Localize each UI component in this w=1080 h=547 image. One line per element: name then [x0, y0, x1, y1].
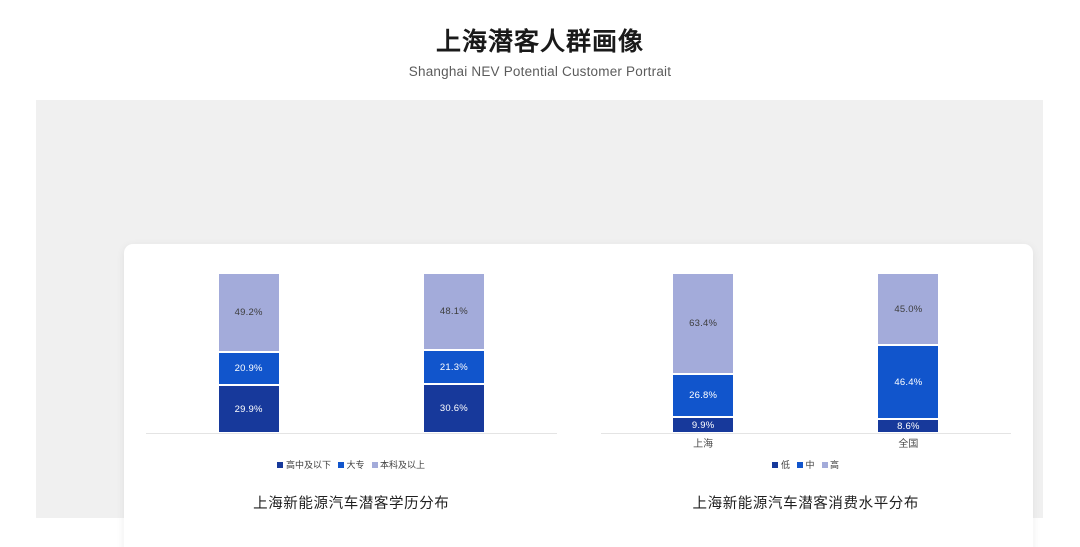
legend-item[interactable]: 大专 [338, 458, 365, 471]
charts-card: 49.2%20.9%29.9%48.1%21.3%30.6%高中及以下大专本科及… [124, 244, 1033, 547]
legend-swatch-icon [822, 462, 828, 468]
category-labels: 上海全国 [601, 435, 1012, 453]
bar-segment[interactable]: 48.1% [424, 273, 484, 350]
bar-segment[interactable]: 21.3% [424, 350, 484, 384]
bar-value-label: 20.9% [235, 363, 263, 374]
bar-segment[interactable]: 30.6% [424, 384, 484, 433]
bar-segment[interactable]: 49.2% [219, 273, 279, 352]
bar-segment[interactable]: 29.9% [219, 385, 279, 433]
bars-container: 63.4%26.8%9.9%45.0%46.4%8.6% [601, 273, 1012, 433]
legend-label: 中 [805, 458, 814, 471]
chart-caption: 上海新能源汽车潜客消费水平分布 [579, 492, 1034, 513]
legend-item[interactable]: 高中及以下 [277, 458, 331, 471]
category-label: 全国 [878, 435, 938, 453]
bar-segment[interactable]: 46.4% [878, 345, 938, 419]
legend-swatch-icon [338, 462, 344, 468]
bars-container: 49.2%20.9%29.9%48.1%21.3%30.6% [146, 273, 557, 433]
bar-value-label: 21.3% [440, 362, 468, 373]
legend-label: 大专 [346, 458, 364, 471]
chart-caption: 上海新能源汽车潜客学历分布 [124, 492, 579, 513]
content-panel: 49.2%20.9%29.9%48.1%21.3%30.6%高中及以下大专本科及… [36, 100, 1043, 518]
bar-value-label: 46.4% [894, 377, 922, 388]
chart-1: 49.2%20.9%29.9%48.1%21.3%30.6%高中及以下大专本科及… [124, 244, 579, 547]
bar-value-label: 49.2% [235, 307, 263, 318]
bar-column[interactable]: 45.0%46.4%8.6% [878, 273, 938, 433]
legend-swatch-icon [277, 462, 283, 468]
bar-segment[interactable]: 9.9% [673, 417, 733, 433]
axis-line [601, 433, 1012, 434]
bar-value-label: 48.1% [440, 306, 468, 317]
bar-value-label: 30.6% [440, 403, 468, 414]
legend-label: 低 [781, 458, 790, 471]
plot-area: 63.4%26.8%9.9%45.0%46.4%8.6% [579, 244, 1034, 434]
bar-column[interactable]: 49.2%20.9%29.9% [219, 273, 279, 433]
legend-item[interactable]: 中 [797, 458, 815, 471]
legend-swatch-icon [372, 462, 378, 468]
bar-column[interactable]: 48.1%21.3%30.6% [424, 273, 484, 433]
legend-item[interactable]: 低 [772, 458, 790, 471]
bar-segment[interactable]: 63.4% [673, 273, 733, 374]
charts-row: 49.2%20.9%29.9%48.1%21.3%30.6%高中及以下大专本科及… [124, 244, 1033, 547]
bar-segment[interactable]: 26.8% [673, 374, 733, 417]
legend-label: 高 [830, 458, 839, 471]
chart-legend: 低中高 [579, 458, 1034, 471]
page-root: 上海潜客人群画像 Shanghai NEV Potential Customer… [0, 0, 1080, 547]
legend-label: 高中及以下 [286, 458, 331, 471]
bar-value-label: 29.9% [235, 404, 263, 415]
chart-2: 63.4%26.8%9.9%45.0%46.4%8.6%上海全国低中高上海新能源… [579, 244, 1034, 547]
bar-value-label: 8.6% [897, 421, 919, 432]
axis-line [146, 433, 557, 434]
category-label: 上海 [673, 435, 733, 453]
page-subtitle: Shanghai NEV Potential Customer Portrait [0, 64, 1080, 79]
bar-value-label: 63.4% [689, 318, 717, 329]
chart-legend: 高中及以下大专本科及以上 [124, 458, 579, 471]
legend-item[interactable]: 高 [822, 458, 840, 471]
legend-swatch-icon [797, 462, 803, 468]
bar-value-label: 45.0% [894, 304, 922, 315]
legend-label: 本科及以上 [380, 458, 425, 471]
page-title: 上海潜客人群画像 [0, 26, 1080, 58]
bar-segment[interactable]: 45.0% [878, 273, 938, 345]
legend-swatch-icon [772, 462, 778, 468]
legend-item[interactable]: 本科及以上 [372, 458, 426, 471]
bar-value-label: 26.8% [689, 390, 717, 401]
plot-area: 49.2%20.9%29.9%48.1%21.3%30.6% [124, 244, 579, 434]
bar-segment[interactable]: 8.6% [878, 419, 938, 433]
bar-value-label: 9.9% [692, 420, 714, 431]
bar-column[interactable]: 63.4%26.8%9.9% [673, 273, 733, 433]
bar-segment[interactable]: 20.9% [219, 352, 279, 385]
page-header: 上海潜客人群画像 Shanghai NEV Potential Customer… [0, 26, 1080, 79]
